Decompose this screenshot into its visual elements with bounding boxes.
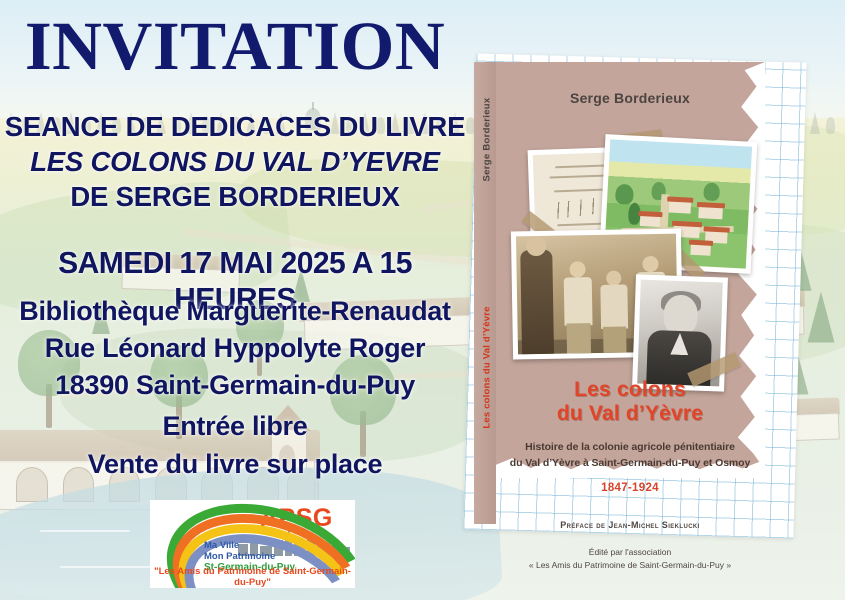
- conifer-tree: [808, 292, 835, 343]
- book-title-line-1: Les colons: [496, 378, 764, 402]
- book-subtitle-line-1: Histoire de la colonie agricole pénitent…: [496, 440, 764, 456]
- venue-street: Rue Léonard Hyppolyte Roger: [0, 330, 470, 367]
- spine-author: Serge Borderieux: [482, 65, 493, 215]
- page-title: INVITATION: [0, 12, 470, 81]
- venue-address: Bibliothèque Marguerite-Renaudat Rue Léo…: [0, 293, 470, 404]
- book-editor-line-2: « Les Amis du Patrimoine de Saint-Germai…: [482, 560, 778, 570]
- portrait-face: [663, 294, 698, 335]
- book-title-line-2: du Val d’Yèvre: [496, 402, 764, 426]
- headline-line-1: SEANCE DE DEDICACES DU LIVRE: [0, 110, 470, 145]
- book-years: 1847-1924: [496, 482, 764, 494]
- book-subtitle-line-2: du Val d’Yèvre à Saint-Germain-du-Puy et…: [496, 456, 764, 472]
- book-title: Les colons du Val d’Yèvre: [496, 378, 764, 427]
- info-line-1: Entrée libre: [0, 408, 470, 446]
- book-cover: Serge Borderieux Les colons du Val d’Yèv…: [474, 62, 784, 524]
- book-preface: Préface de Jean-Michel Sieklucki: [496, 520, 764, 530]
- venue-city: 18390 Saint-Germain-du-Puy: [0, 367, 470, 404]
- headline-block: SEANCE DE DEDICACES DU LIVRE LES COLONS …: [0, 110, 470, 215]
- logo-sub-line-1: Ma Ville: [204, 540, 295, 551]
- event-info: Entrée libre Vente du livre sur place: [0, 408, 470, 484]
- cover-author: Serge Borderieux: [496, 90, 764, 106]
- invitation-poster: INVITATION SEANCE DE DEDICACES DU LIVRE …: [0, 0, 845, 600]
- logo-tagline: "Les Amis du Patrimoine de Saint-Germain…: [150, 566, 355, 588]
- spine-title: Les colons du Val d’Yèvre: [482, 293, 493, 443]
- logo-sub-line-2: Mon Patrimoine: [204, 551, 295, 562]
- figure-colonist: [563, 273, 594, 354]
- info-line-2: Vente du livre sur place: [0, 446, 470, 484]
- figure-colonist: [599, 278, 630, 353]
- book-editor-line-1: Édité par l'association: [496, 547, 764, 557]
- book-subtitle: Histoire de la colonie agricole pénitent…: [496, 440, 764, 472]
- venue-name: Bibliothèque Marguerite-Renaudat: [0, 293, 470, 330]
- headline-line-2: LES COLONS DU VAL D’YEVRE: [0, 145, 470, 180]
- figure-priest: [520, 250, 554, 355]
- water-ripple: [40, 530, 130, 532]
- apsg-logo: APSG Ma Ville Mon Patrimoine St-Germain-…: [150, 500, 355, 588]
- headline-line-3: DE SERGE BORDERIEUX: [0, 180, 470, 215]
